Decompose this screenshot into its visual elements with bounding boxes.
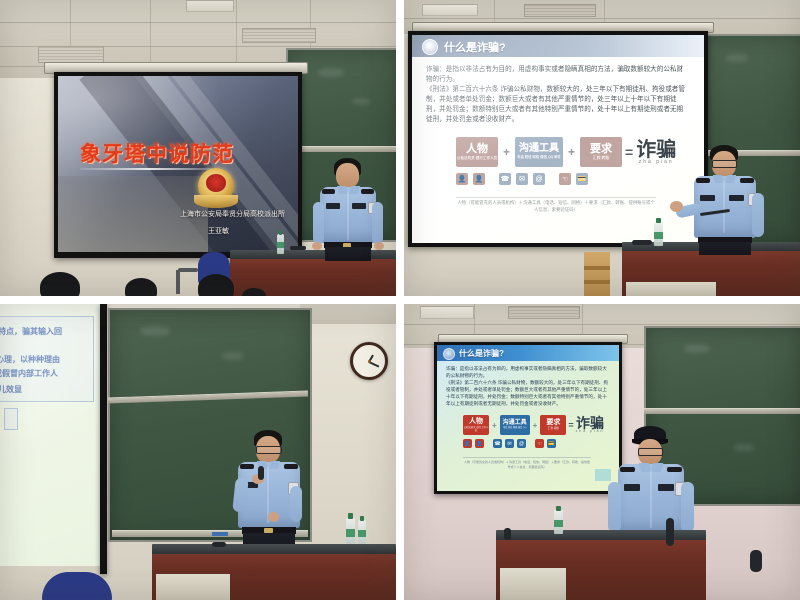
- person-icon: 👤: [456, 173, 468, 185]
- chalk-tray-label: [212, 532, 228, 536]
- speaker-officer: [676, 145, 772, 255]
- title-slide: 象牙塔中说防范 上海市公安局奉贤分局高校派出所 王亚敏: [58, 76, 298, 252]
- formula-equals: =: [568, 420, 573, 430]
- epaulette: [696, 178, 710, 183]
- epaulette: [322, 189, 335, 194]
- slide-line-1: 特点，骗其输入回: [0, 326, 62, 337]
- glasses-icon: [638, 448, 663, 456]
- person-icon: 👤: [475, 439, 484, 448]
- formula-result: 诈骗 zhà piàn: [636, 140, 676, 165]
- slide-icon-row: 👤 👤 ☎ ✉ @ ☜ 💳: [456, 173, 588, 185]
- formula-term-label: 要求: [590, 144, 612, 155]
- microphone: [258, 466, 264, 480]
- head: [336, 163, 359, 188]
- fraud-formula: 人物 公检法机关 银行工作人员 + 沟通工具 电话 短信 网络 微信 QQ 邮件…: [456, 137, 676, 167]
- formula-plus: +: [568, 145, 575, 159]
- name-placard: [352, 203, 366, 209]
- formula-plus: +: [533, 421, 538, 430]
- formula-result-pinyin: zhà piàn: [576, 430, 605, 433]
- formula-result-pinyin: zhà piàn: [639, 160, 674, 165]
- name-placard: [624, 484, 640, 491]
- name-placard: [658, 484, 674, 491]
- ceiling-light: [420, 306, 474, 319]
- fraud-formula: 人物 公检法机关 银行工作人员 + 沟通工具 电话 短信 网络 微信 QQ + …: [463, 415, 604, 435]
- podium-desktop: [152, 544, 396, 554]
- formula-result: 诈骗 zhà piàn: [576, 416, 605, 433]
- speaker-box: [750, 550, 762, 572]
- wooden-stool-slat: [584, 266, 610, 270]
- police-badge-icon: [422, 39, 438, 55]
- uniform-shirt: [694, 176, 756, 238]
- card-icon: 💳: [576, 173, 588, 185]
- formula-equals: =: [625, 144, 633, 160]
- slide-line-3: 或假冒内部工作人: [0, 368, 58, 379]
- person-icon: 👤: [473, 173, 485, 185]
- microphone: [632, 240, 652, 245]
- formula-term-label: 人物: [469, 418, 483, 425]
- formula-term-tool: 沟通工具 电话 短信 网络 微信 QQ: [500, 415, 530, 435]
- epaulette: [361, 189, 374, 194]
- glasses-icon: [712, 160, 737, 168]
- slide-line-2: 心理，以种种理由: [0, 354, 60, 365]
- message-icon: ✉: [505, 439, 514, 448]
- epaulette: [740, 178, 754, 183]
- ceiling-vent: [242, 28, 316, 43]
- trousers: [699, 242, 751, 255]
- projector-screen-edge: [100, 304, 107, 574]
- ceiling: [300, 304, 396, 324]
- epaulette: [240, 464, 254, 469]
- audience-head: [198, 274, 234, 296]
- formula-term-person: 人物 公检法机关 银行工作人员: [463, 415, 489, 435]
- formula-term-person: 人物 公检法机关 银行工作人员: [456, 137, 498, 167]
- slide-header-title: 什么是诈骗?: [444, 39, 506, 55]
- slide-paragraph-1: 诈骗：是指以非法占有为目的，用虚构事实或者隐瞒真相的方法，骗取数额较大的公私财物…: [446, 366, 610, 380]
- phone-icon: ☎: [493, 439, 502, 448]
- trousers: [325, 247, 371, 261]
- slide-title-text: 象牙塔中说防范: [80, 138, 234, 168]
- slide-paragraph-2: 《刑法》第二百六十六条 诈骗公私财物，数额较大的，处三年以下有期徒刑、拘役或者管…: [446, 380, 610, 408]
- fraud-definition-slide: 什么是诈骗? 诈骗：是指以非法占有为目的，用虚构事实或者隐瞒真相的方法，骗取数额…: [412, 35, 704, 243]
- wall-clock: [350, 342, 388, 380]
- water-bottle: [277, 234, 284, 254]
- formula-result-label: 诈骗: [636, 140, 676, 160]
- police-badge-icon: [443, 348, 455, 360]
- speaker-officer: [312, 158, 384, 262]
- slide-footnote: 人物（可能冒充的人员或机构）＋沟通工具（电话、短信、网络）＋要求（汇款、转账、提…: [456, 197, 656, 213]
- photo-bottom-right[interactable]: 什么是诈骗? 诈骗：是指以非法占有为目的，用虚构事实或者隐瞒真相的方法，骗取数额…: [404, 304, 800, 600]
- fraud-definition-slide: 什么是诈骗? 诈骗：是指以非法占有为目的，用虚构事实或者隐瞒真相的方法，骗取数额…: [437, 345, 619, 491]
- at-icon: @: [517, 439, 526, 448]
- slide-org-line: 上海市公安局奉贤分局高校派出所: [180, 209, 285, 219]
- podium-desktop: [496, 530, 706, 540]
- message-icon: ✉: [516, 173, 528, 185]
- formula-term-label: 沟通工具: [503, 420, 527, 426]
- slide-line-4: 儿效显: [0, 384, 22, 395]
- photo-bottom-left[interactable]: 特点，骗其输入回 心理，以种种理由 或假冒内部工作人 儿效显: [0, 304, 396, 600]
- water-bottle: [654, 222, 663, 246]
- card-icon: 💳: [547, 439, 556, 448]
- open-hand: [670, 201, 683, 212]
- microphone: [666, 518, 674, 546]
- slide-speaker-line: 王亚敏: [208, 226, 229, 236]
- slide-header-title: 什么是诈骗?: [459, 348, 504, 359]
- formula-term-label: 人物: [466, 144, 488, 155]
- formula-plus: +: [492, 421, 497, 430]
- epaulette: [667, 467, 682, 472]
- microphone: [290, 246, 306, 250]
- photo-top-left[interactable]: 象牙塔中说防范 上海市公安局奉贤分局高校派出所 王亚敏: [0, 0, 396, 296]
- slide-header-bar: 什么是诈骗?: [437, 345, 619, 361]
- ceiling-vent: [38, 46, 104, 63]
- formula-plus: +: [503, 145, 510, 159]
- at-icon: @: [533, 173, 545, 185]
- name-placard: [729, 195, 744, 201]
- formula-term-label: 沟通工具: [519, 144, 559, 154]
- formula-term-tool: 沟通工具 电话 短信 网络 微信 QQ 邮件: [515, 137, 563, 167]
- water-bottle: [346, 518, 355, 544]
- hand-icon: ☜: [559, 173, 571, 185]
- epaulette: [620, 467, 635, 472]
- audience-head: [125, 278, 157, 296]
- hand-icon: ☜: [535, 439, 544, 448]
- wooden-stool-slat: [584, 280, 610, 284]
- projected-slide-cropped: 特点，骗其输入回 心理，以种种理由 或假冒内部工作人 儿效显: [0, 304, 104, 566]
- water-bottle: [554, 510, 563, 534]
- name-placard: [326, 203, 340, 209]
- name-placard: [700, 195, 715, 201]
- formula-result-label: 诈骗: [576, 416, 604, 430]
- police-emblem-icon: [198, 168, 234, 204]
- slide-header-bar: 什么是诈骗?: [412, 35, 704, 57]
- formula-term-demand: 要求 汇款 转账: [580, 137, 622, 167]
- photo-collage: 象牙塔中说防范 上海市公安局奉贤分局高校派出所 王亚敏: [0, 0, 800, 600]
- podium-base: [156, 574, 230, 600]
- microphone-base: [212, 542, 226, 547]
- ceiling-light: [422, 4, 478, 16]
- slide-footnote: 人物（可能冒充的人员或机构）＋沟通工具（电话、短信、网络）＋要求（汇款、转账、提…: [463, 457, 591, 469]
- ceiling-vent: [524, 4, 596, 17]
- podium-base: [626, 282, 716, 296]
- photo-top-right[interactable]: 什么是诈骗? 诈骗：是指以非法占有为目的，用虚构事实或者隐瞒真相的方法，骗取数额…: [404, 0, 800, 296]
- epaulette: [284, 464, 298, 469]
- person-icon: 👤: [463, 439, 472, 448]
- podium-base: [500, 568, 566, 600]
- formula-term-label: 要求: [546, 419, 560, 426]
- water-bottle: [358, 520, 366, 544]
- formula-term-demand: 要求 汇款 转账: [540, 415, 566, 435]
- glasses-icon: [256, 446, 282, 454]
- ceiling-vent: [508, 306, 580, 319]
- audience-head: [40, 272, 80, 296]
- phone-icon: ☎: [499, 173, 511, 185]
- speaker-officer: [228, 430, 314, 552]
- slide-icon-row: 👤 👤 ☎ ✉ @ ☜ 💳: [463, 439, 556, 448]
- ceiling-light: [186, 0, 234, 12]
- slide-paragraph-2: 《刑法》第二百六十六条 诈骗公私财物，数额较大的，处三年以下有期徒刑、拘役或者管…: [426, 85, 688, 125]
- microphone: [504, 528, 511, 540]
- slide-paragraph-1: 诈骗：是指以非法占有为目的，用虚构事实或者隐瞒真相的方法，骗取数额较大的公私财物…: [426, 65, 688, 85]
- wooden-stool: [584, 252, 610, 296]
